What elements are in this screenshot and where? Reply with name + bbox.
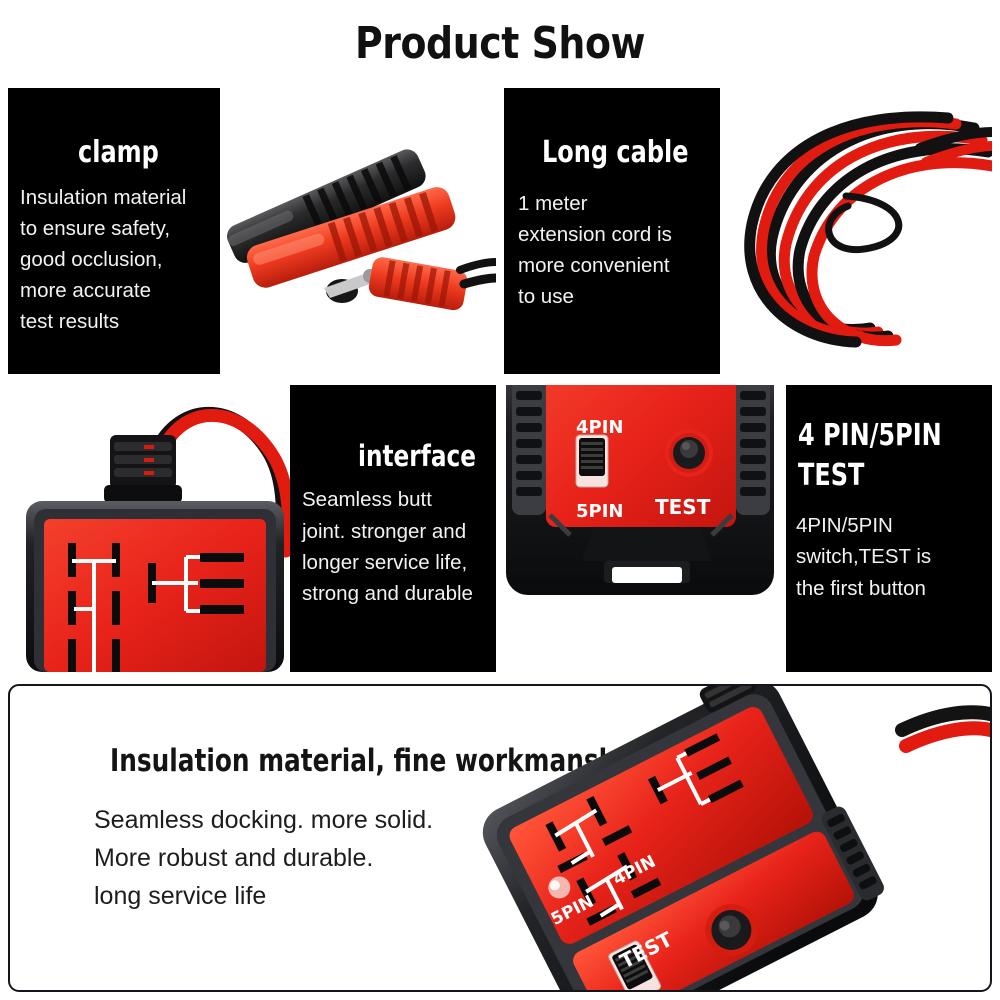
panel-workmanship-body-line: More robust and durable. bbox=[94, 839, 524, 877]
tester-angled-photo: 4PIN 5PIN TEST bbox=[470, 686, 990, 990]
panel-workmanship-text: Insulation material, fine workmanship Se… bbox=[10, 686, 530, 986]
tester-top-illustration bbox=[8, 385, 290, 672]
panel-long-cable-body-line: 1 meter bbox=[518, 188, 726, 219]
panel-clamp-body-line: test results bbox=[20, 306, 226, 337]
panel-interface-body: Seamless butt joint. stronger and longer… bbox=[302, 484, 496, 609]
panel-pin-test-body-line: 4PIN/5PIN bbox=[796, 510, 992, 541]
panel-clamp-body-line: Insulation material bbox=[20, 182, 226, 213]
tester-connector-photo bbox=[8, 385, 290, 672]
panel-long-cable: Long cable 1 meter extension cord is mor… bbox=[504, 88, 992, 374]
tester-switch-photo: 4PIN 5PIN TEST bbox=[504, 385, 786, 672]
page-title: Product Show bbox=[70, 18, 930, 69]
panel-long-cable-body-line: to use bbox=[518, 281, 726, 312]
panel-interface-text: interface Seamless butt joint. stronger … bbox=[290, 385, 496, 672]
panel-pin-test-text: 4 PIN/5PIN TEST 4PIN/5PIN switch,TEST is… bbox=[786, 385, 992, 672]
panel-workmanship-body: Seamless docking. more solid. More robus… bbox=[94, 801, 524, 915]
panel-interface-body-line: Seamless butt bbox=[302, 484, 496, 515]
panel-workmanship: Insulation material, fine workmanship Se… bbox=[8, 684, 992, 992]
panel-workmanship-body-line: Seamless docking. more solid. bbox=[94, 801, 524, 839]
panel-long-cable-body-line: extension cord is bbox=[518, 219, 726, 250]
panel-pin-test-body-line: switch,TEST is bbox=[796, 541, 992, 572]
panel-pin-test-heading-line1: 4 PIN/5PIN bbox=[798, 419, 953, 453]
device-label-4pin: 4PIN bbox=[576, 417, 623, 438]
panel-interface-heading: interface bbox=[358, 440, 468, 472]
tester-angled-illustration bbox=[470, 686, 990, 990]
panel-pin-test-body-line: the first button bbox=[796, 573, 992, 604]
battery-clamp-photo bbox=[220, 88, 496, 374]
panel-interface: interface Seamless butt joint. stronger … bbox=[8, 385, 496, 672]
panel-clamp-body: Insulation material to ensure safety, go… bbox=[20, 182, 226, 338]
clamp-illustration bbox=[220, 88, 496, 374]
panel-interface-body-line: strong and durable bbox=[302, 578, 496, 609]
device-label-5pin: 5PIN bbox=[576, 501, 623, 522]
panel-workmanship-heading: Insulation material, fine workmanship bbox=[110, 744, 446, 779]
panel-clamp-body-line: to ensure safety, bbox=[20, 213, 226, 244]
panel-interface-body-line: joint. stronger and bbox=[302, 516, 496, 547]
cable-coil-illustration bbox=[720, 88, 992, 374]
device-label-test: TEST bbox=[655, 495, 710, 519]
panel-pin-test-heading-line2: TEST bbox=[798, 459, 953, 493]
panel-pin-test: 4PIN 5PIN TEST 4 PIN/5PIN TEST 4PIN/5PIN… bbox=[504, 385, 992, 672]
panel-interface-body-line: longer service life, bbox=[302, 547, 496, 578]
coiled-cable-photo bbox=[720, 88, 992, 374]
panel-long-cable-body-line: more convenient bbox=[518, 250, 726, 281]
panel-long-cable-text: Long cable 1 meter extension cord is mor… bbox=[504, 88, 720, 374]
panel-clamp: clamp Insulation material to ensure safe… bbox=[8, 88, 496, 374]
panel-clamp-body-line: good occlusion, bbox=[20, 244, 226, 275]
panel-clamp-body-line: more accurate bbox=[20, 275, 226, 306]
panel-clamp-text: clamp Insulation material to ensure safe… bbox=[8, 88, 220, 374]
tester-switch-illustration bbox=[504, 385, 786, 672]
panel-long-cable-heading: Long cable bbox=[542, 136, 684, 170]
panel-pin-test-body: 4PIN/5PIN switch,TEST is the first butto… bbox=[796, 510, 992, 603]
panel-clamp-heading: clamp bbox=[78, 136, 192, 170]
panel-workmanship-body-line: long service life bbox=[94, 877, 524, 915]
panel-long-cable-body: 1 meter extension cord is more convenien… bbox=[518, 188, 726, 313]
